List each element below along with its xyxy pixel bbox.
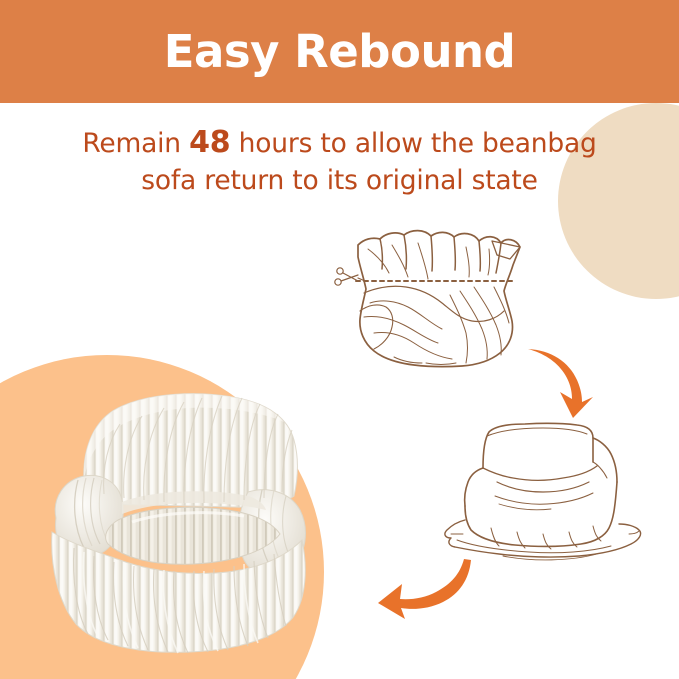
- curved-arrow-left-icon: [375, 558, 475, 620]
- subtitle-block: Remain 48 hours to allow the beanbag sof…: [0, 124, 679, 199]
- curved-arrow-down-icon: [525, 344, 607, 420]
- subtitle-line-1: Remain 48 hours to allow the beanbag: [0, 124, 679, 162]
- subtitle-text-after: hours to allow the beanbag: [230, 128, 596, 159]
- product-photo-beanbag-chair: [22, 362, 332, 662]
- header-banner: Easy Rebound: [0, 0, 679, 103]
- packed-beanbag-illustration: [334, 225, 548, 373]
- subtitle-text-before: Remain: [82, 128, 189, 159]
- subtitle-hours-value: 48: [189, 125, 230, 160]
- page-title: Easy Rebound: [154, 29, 525, 74]
- promo-infographic: Easy Rebound Remain 48 hours to allow th…: [0, 0, 679, 679]
- unpacked-beanbag-illustration: [443, 416, 649, 568]
- subtitle-line-2: sofa return to its original state: [0, 162, 679, 199]
